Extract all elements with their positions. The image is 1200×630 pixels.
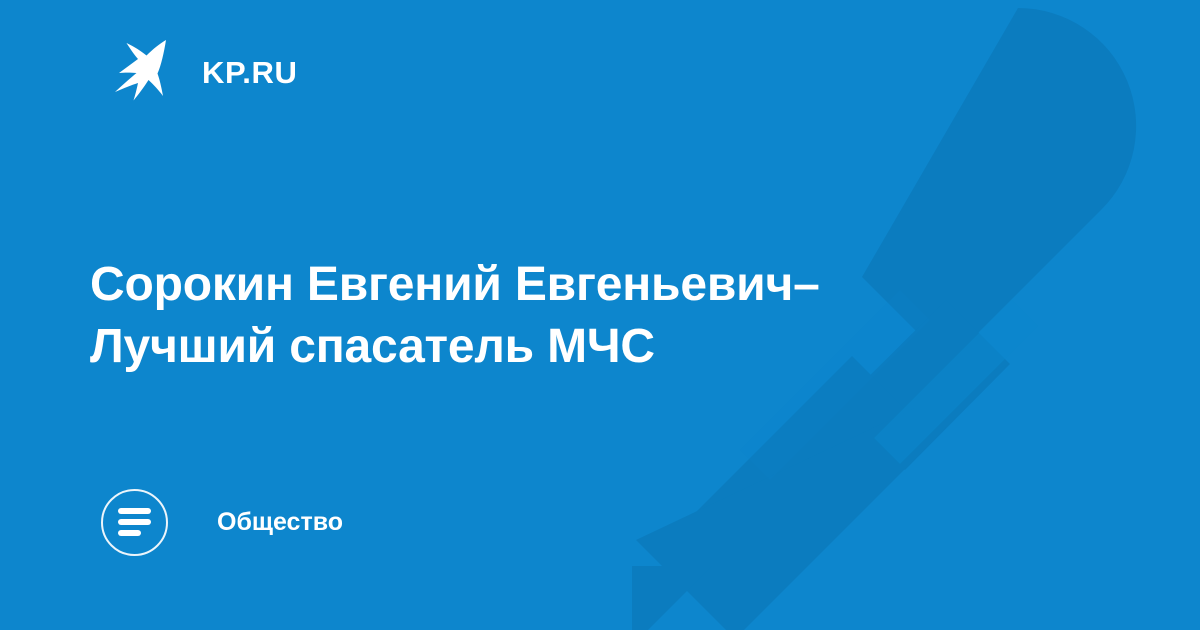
hamburger-line-1 xyxy=(118,508,151,514)
page-title: Сорокин Евгений Евгеньевич– Лучший спаса… xyxy=(90,254,990,378)
hamburger-line-3 xyxy=(118,530,141,536)
hamburger-line-2 xyxy=(118,519,151,525)
swallow-bird-logo-icon xyxy=(110,38,172,108)
rubric-label: Общество xyxy=(217,510,343,535)
site-logo[interactable]: KP.RU xyxy=(110,36,297,110)
hamburger-lines-icon[interactable] xyxy=(101,489,168,556)
rubric-badge[interactable]: Общество xyxy=(101,487,343,557)
article-share-card: KP.RU Сорокин Евгений Евгеньевич– Лучший… xyxy=(0,0,1200,630)
site-wordmark: KP.RU xyxy=(202,57,297,90)
hamburger-bars xyxy=(103,508,166,536)
